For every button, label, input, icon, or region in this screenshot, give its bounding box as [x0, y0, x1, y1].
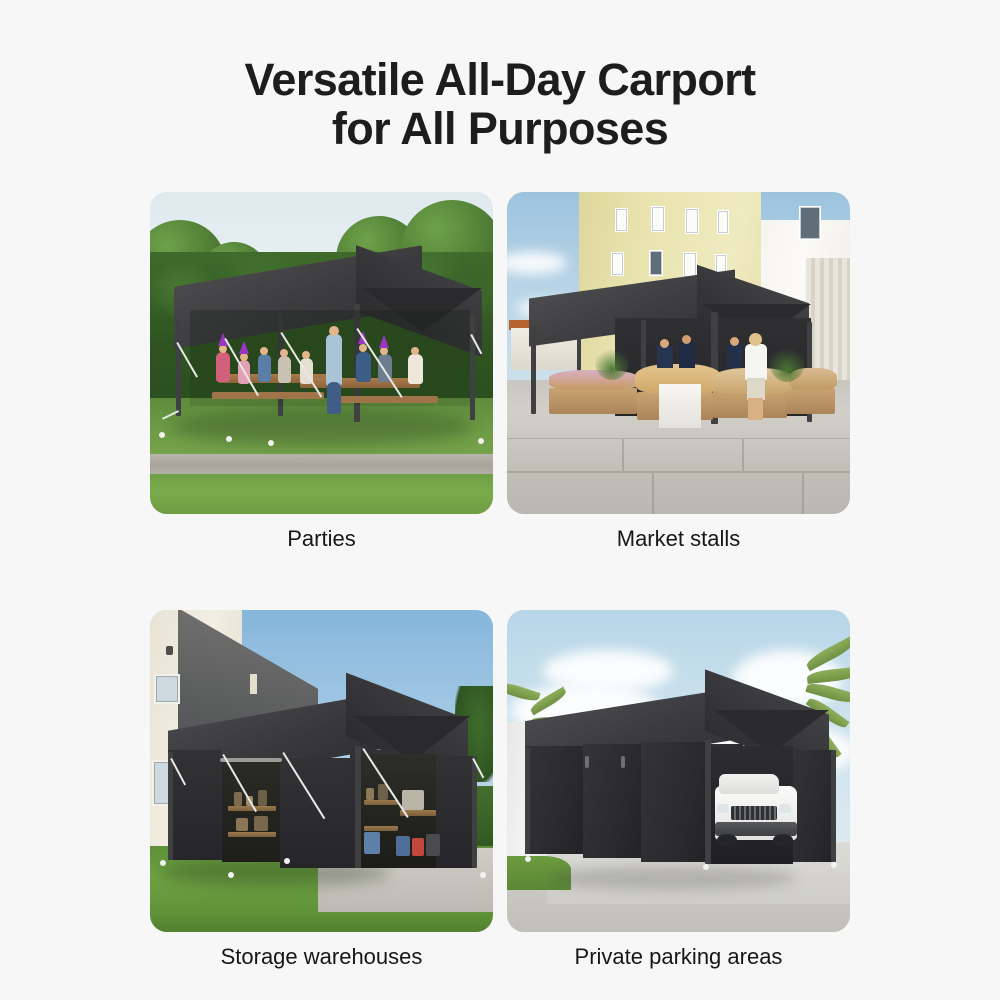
page-title-line-2: for All Purposes: [0, 104, 1000, 153]
canopy-leg: [831, 750, 836, 862]
parties-scene: [150, 192, 493, 514]
white-tablecloth: [659, 384, 701, 428]
rail-icon: [220, 758, 282, 762]
gallery-item-storage-warehouses: Storage warehouses: [150, 610, 493, 971]
window: [685, 208, 699, 234]
person: [216, 352, 230, 382]
person-head: [359, 344, 367, 352]
paving-slab: [653, 472, 803, 514]
canopy-leg: [531, 326, 536, 414]
market-stalls-image: [507, 192, 850, 514]
canopy-leg: [176, 320, 181, 416]
party-hat-icon: [239, 341, 249, 354]
gallery-item-parties: Parties: [150, 192, 493, 553]
shelf: [364, 800, 398, 805]
car-headlight: [779, 804, 791, 813]
gallery-item-private-parking-areas: Private parking areas: [507, 610, 850, 971]
ground-peg: [268, 440, 274, 446]
page-title-line-1: Versatile All-Day Carport: [0, 55, 1000, 104]
use-case-gallery: Parties: [150, 192, 850, 971]
person: [278, 356, 291, 383]
ground-peg: [831, 862, 837, 868]
stored-item: [236, 818, 248, 831]
vendor: [679, 342, 695, 368]
ground-peg: [703, 864, 709, 870]
car-grille: [731, 806, 777, 820]
ground-peg: [226, 436, 232, 442]
canopy-leg: [168, 752, 173, 860]
ground-peg: [284, 858, 290, 864]
person: [356, 352, 371, 382]
window: [651, 206, 665, 232]
canopy-leg: [705, 740, 711, 864]
storage-opening: [222, 762, 280, 862]
person-head: [329, 326, 339, 336]
wall-lamp-icon: [166, 646, 173, 655]
vendor-head: [682, 335, 691, 344]
stored-item: [258, 790, 267, 806]
market-stalls-scene: [507, 192, 850, 514]
window: [649, 250, 663, 276]
person-head: [380, 347, 388, 355]
canopy-side-wall-panel: [525, 746, 583, 854]
person-head: [240, 353, 248, 361]
gravel-path: [150, 454, 493, 476]
stored-item: [366, 788, 374, 800]
private-parking-areas-image: [507, 610, 850, 932]
planter-box: [785, 388, 835, 414]
stored-item: [254, 816, 268, 831]
page-title: Versatile All-Day Carport for All Purpos…: [0, 55, 1000, 153]
shelf: [364, 826, 398, 831]
stored-item: [364, 832, 380, 854]
zipper-pull-icon: [585, 756, 589, 768]
stored-item: [412, 838, 424, 856]
person-head: [411, 347, 419, 355]
picnic-bench: [212, 392, 324, 399]
party-hat-icon: [379, 335, 389, 348]
stored-item: [402, 790, 424, 810]
paving-slab: [803, 472, 850, 514]
window: [799, 206, 821, 240]
picnic-bench: [328, 396, 438, 403]
palm-plant: [595, 344, 629, 380]
ground-peg: [228, 872, 234, 878]
window: [717, 210, 729, 234]
canopy-leg: [525, 748, 530, 854]
canopy-leg: [355, 746, 361, 868]
person-head: [302, 351, 310, 359]
storage-warehouses-scene: [150, 610, 493, 932]
canopy-shadow: [547, 866, 797, 890]
canopy-side-wall-panel: [583, 744, 641, 858]
flower-display: [549, 370, 639, 390]
ground-peg: [478, 438, 484, 444]
car-headlight: [717, 804, 729, 813]
paving-slab: [623, 438, 743, 472]
shopper-legs: [748, 398, 763, 420]
shopper-legs: [747, 378, 765, 400]
paving-slab: [507, 438, 623, 472]
shopper-head: [749, 333, 762, 346]
car-wheel: [773, 834, 793, 846]
person-standing: [326, 334, 342, 386]
product-feature-page: Versatile All-Day Carport for All Purpos…: [0, 0, 1000, 1000]
ground-peg: [159, 432, 165, 438]
car-hood: [719, 774, 779, 794]
house-window: [154, 674, 180, 704]
person: [408, 354, 423, 384]
paving-slab: [507, 472, 653, 514]
stored-item: [396, 836, 410, 856]
person: [258, 354, 271, 382]
canopy-leg: [472, 756, 477, 868]
canopy-side-wall-panel: [641, 742, 707, 862]
ground-peg: [525, 856, 531, 862]
zipper-pull-icon: [621, 756, 625, 768]
ground-peg: [160, 860, 166, 866]
private-parking-areas-caption: Private parking areas: [507, 943, 850, 971]
shelf: [228, 832, 276, 837]
palm-plant: [769, 342, 805, 382]
storage-warehouses-image: [150, 610, 493, 932]
person-head: [260, 347, 268, 355]
ground-peg: [480, 872, 486, 878]
parties-image: [150, 192, 493, 514]
storage-warehouses-caption: Storage warehouses: [150, 943, 493, 971]
car-wheel: [717, 834, 737, 846]
private-parking-scene: [507, 610, 850, 932]
canopy-shadow: [172, 408, 472, 446]
vendor-head: [660, 339, 669, 348]
shopper-body: [745, 344, 767, 380]
person-head: [280, 349, 288, 357]
window: [611, 252, 624, 276]
market-stalls-caption: Market stalls: [507, 525, 850, 553]
planter-box: [549, 388, 637, 414]
lawn-near: [150, 474, 493, 514]
vendor: [657, 346, 673, 368]
window: [615, 208, 628, 232]
canopy-far-wall: [436, 756, 474, 868]
chimney: [250, 674, 257, 694]
stored-item: [234, 792, 242, 806]
vendor-head: [730, 337, 739, 346]
person-head: [219, 345, 227, 353]
vendor: [727, 344, 742, 368]
paving-slab: [743, 438, 850, 472]
stored-item: [426, 834, 440, 856]
parties-caption: Parties: [150, 525, 493, 553]
canopy-leg: [470, 316, 475, 420]
gallery-item-market-stalls: Market stalls: [507, 192, 850, 553]
person-legs: [327, 382, 341, 414]
